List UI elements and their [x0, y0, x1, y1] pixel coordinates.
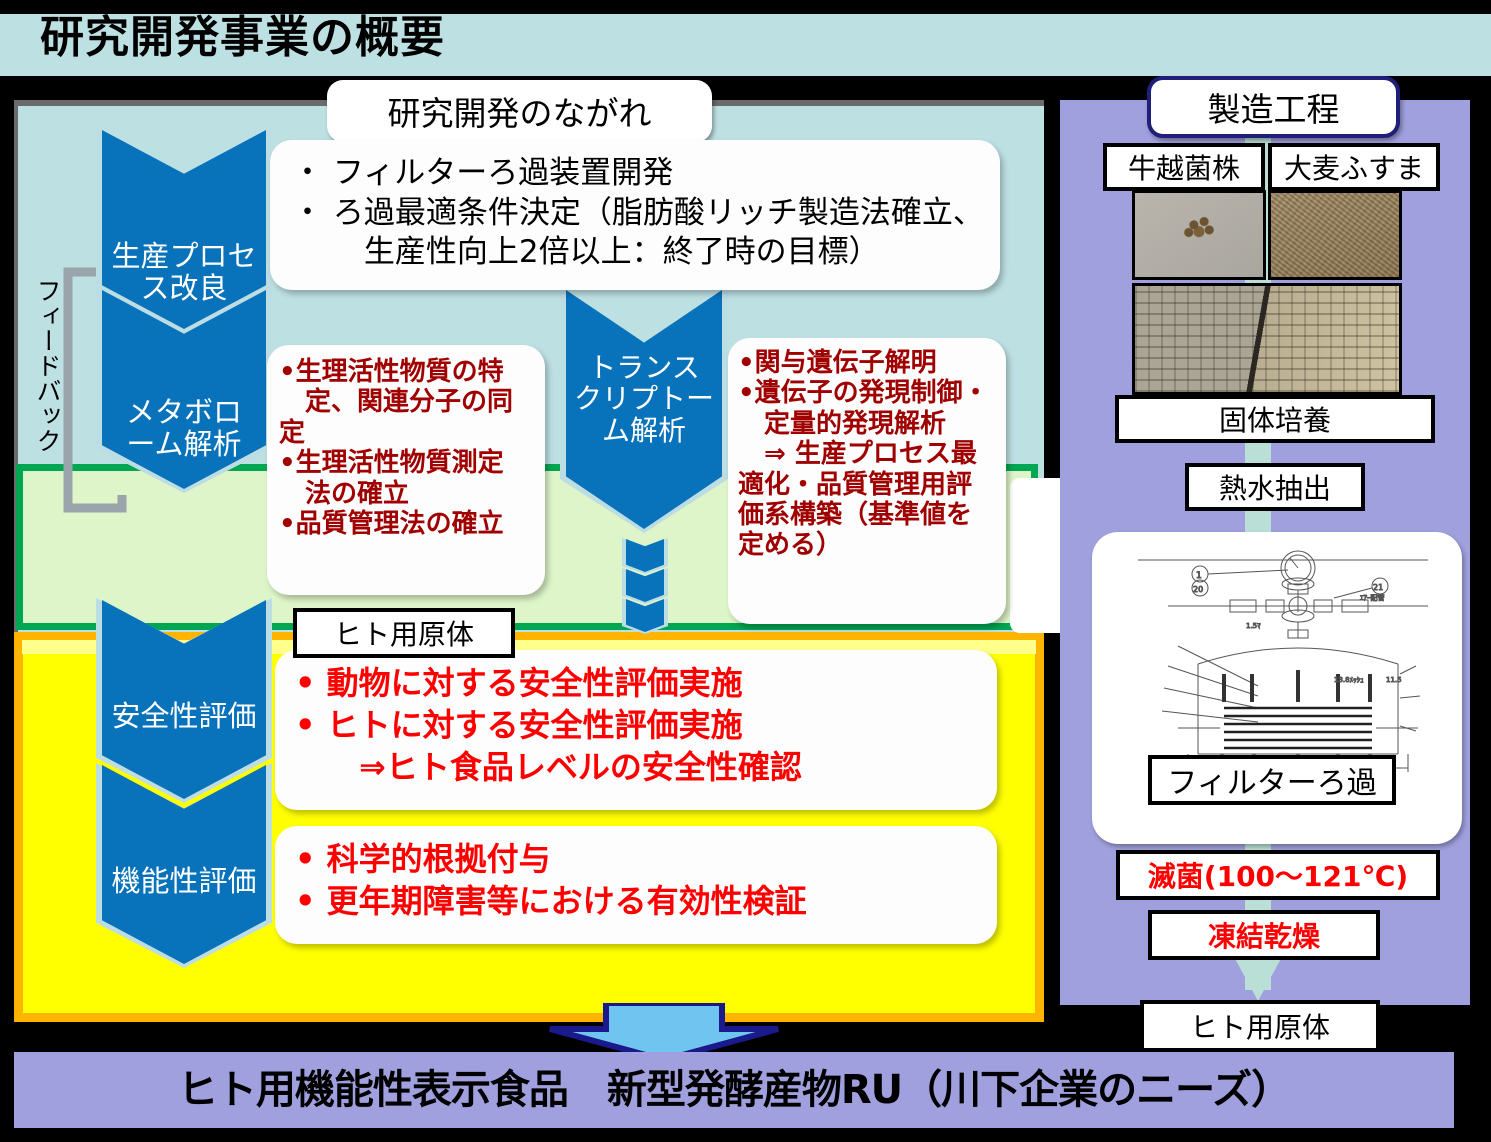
svg-text:1.5ﾏ: 1.5ﾏ	[1246, 622, 1261, 630]
card-gene-line-5: 価系構築（基準値を	[738, 500, 998, 530]
stage-arrow-0-line1: 生産プロセ	[111, 239, 256, 273]
hot-water-extraction-label: 熱水抽出	[1185, 463, 1365, 511]
stage-arrow-0-line2: ス改良	[140, 271, 227, 305]
strain-label: 牛越菌株	[1103, 143, 1265, 191]
card-safety-line-2: ⇒ヒト食品レベルの安全性確認	[295, 746, 977, 788]
card-gene-line-0: •関与遺伝子解明	[738, 348, 998, 378]
strain-microscope-photo	[1132, 190, 1266, 280]
solid-culture-label: 固体培養	[1115, 395, 1435, 443]
svg-text:13.8ﾒｯｼｭ: 13.8ﾒｯｼｭ	[1334, 676, 1364, 684]
svg-text:20: 20	[1193, 585, 1203, 594]
flow-down-arrow-icon	[1228, 955, 1288, 1005]
svg-text:ｴｱｰ配管: ｴｱｰ配管	[1360, 593, 1385, 602]
card-filter-development: ・ フィルターろ過装置開発 ・ ろ過最適条件決定（脂肪酸リッチ製造法確立、 生産…	[270, 140, 1000, 290]
transcriptome-line1: トランス	[588, 351, 699, 384]
card-gene-analysis: •関与遺伝子解明 •遺伝子の発現制御・ 定量的発現解析 ⇒ 生産プロセス最 適化…	[728, 338, 1006, 624]
card-gene-line-3: ⇒ 生産プロセス最	[738, 439, 998, 469]
card-metabolome-line-4: •品質管理法の確立	[279, 509, 535, 539]
bran-photo	[1268, 190, 1402, 280]
stage-arrow-1-line1: メタボロ	[126, 395, 242, 429]
card-filter-line-2: 生産性向上2倍以上：終了時の目標）	[292, 233, 978, 273]
zone-bridge	[1010, 478, 1062, 633]
flow-heading-pill: 研究開発のながれ	[327, 80, 712, 142]
stage-arrow-2-line1: 安全性評価	[111, 699, 256, 733]
card-gene-line-4: 適化・品質管理用評	[738, 470, 998, 500]
manufacturing-heading-pill: 製造工程	[1147, 76, 1400, 138]
card-functional-line-0: • 科学的根拠付与	[295, 838, 977, 880]
page-title: 研究開発事業の概要	[40, 16, 445, 60]
svg-text:1: 1	[1196, 571, 1202, 581]
freeze-drying-label: 凍結乾燥	[1148, 910, 1380, 960]
filter-apparatus-drawing-icon: 1 20 21 1.5ﾏ	[1138, 546, 1428, 776]
sterilization-label: 滅菌(100〜121℃)	[1116, 850, 1440, 900]
bottom-banner: ヒト用機能性表示食品 新型発酵産物RU（川下企業のニーズ）	[14, 1052, 1454, 1128]
feedback-label: フィードバック	[26, 278, 60, 453]
card-functional-evaluation: • 科学的根拠付与 • 更年期障害等における有効性検証	[275, 826, 997, 944]
card-metabolome: •生理活性物質の特 定、関連分子の同定 •生理活性物質測定 法の確立 •品質管理…	[267, 345, 545, 595]
stage-arrow-1-line2: ーム解析	[126, 427, 241, 461]
card-metabolome-line-2: •生理活性物質測定	[279, 448, 535, 478]
card-safety-line-0: • 動物に対する安全性評価実施	[295, 662, 977, 704]
bottom-banner-text: ヒト用機能性表示食品 新型発酵産物RU（川下企業のニーズ）	[14, 1052, 1454, 1128]
transcriptome-line2: クリプトー	[574, 382, 714, 415]
transcriptome-line3: ム解析	[602, 414, 686, 447]
human-substance-label: ヒト用原体	[293, 608, 515, 658]
card-safety-line-1: • ヒトに対する安全性評価実施	[295, 704, 977, 746]
card-metabolome-line-3: 法の確立	[279, 479, 535, 509]
card-filter-line-0: ・ フィルターろ過装置開発	[292, 154, 978, 194]
card-safety-evaluation: • 動物に対する安全性評価実施 • ヒトに対する安全性評価実施 ⇒ヒト食品レベル…	[275, 650, 997, 810]
card-gene-line-6: 定める）	[738, 530, 998, 560]
stage-arrow-3-line1: 機能性評価	[111, 864, 256, 898]
card-gene-line-1: •遺伝子の発現制御・	[738, 378, 998, 408]
card-filter-line-1: ・ ろ過最適条件決定（脂肪酸リッチ製造法確立、	[292, 194, 978, 234]
bran-label: 大麦ふすま	[1268, 143, 1440, 191]
filter-filtration-label: フィルターろ過	[1148, 755, 1396, 805]
card-functional-line-1: • 更年期障害等における有効性検証	[295, 880, 977, 922]
final-product-label: ヒト用原体	[1140, 1000, 1380, 1052]
svg-text:11.5: 11.5	[1386, 676, 1402, 684]
svg-text:21: 21	[1373, 583, 1383, 592]
solid-culture-photo	[1132, 283, 1402, 395]
card-metabolome-line-1: 定、関連分子の同定	[279, 387, 535, 448]
card-metabolome-line-0: •生理活性物質の特	[279, 357, 535, 387]
card-gene-line-2: 定量的発現解析	[738, 409, 998, 439]
